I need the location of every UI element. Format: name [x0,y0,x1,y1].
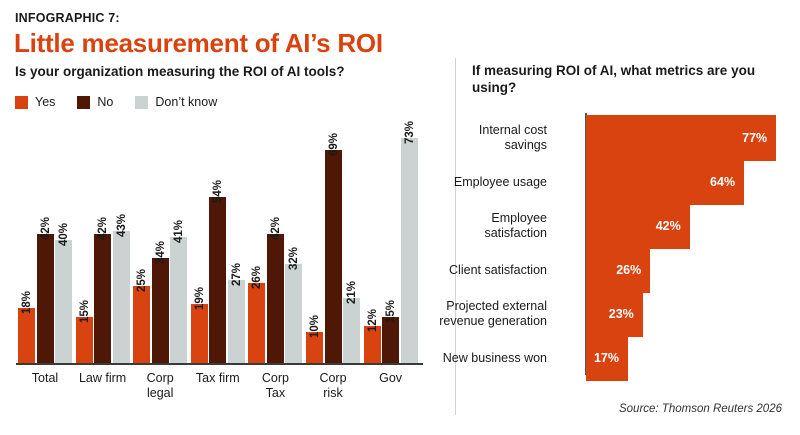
grouped-bar-chart: 18%42%40%15%42%43%25%34%41%19%54%27%26%4… [0,0,455,435]
bar-value-label: 69% [328,133,340,156]
metric-bar-projected-external-revenue-generation: 23% [586,291,643,337]
x-axis-label-gov: Gov [353,371,429,386]
metric-value-label: 42% [656,219,690,233]
metric-label-employee-usage: Employee usage [412,175,547,190]
bar-value-label: 54% [212,180,224,203]
bar-tax-firm-don-t-know [228,280,245,363]
bar-tax-firm-yes [191,304,208,363]
metric-value-label: 77% [742,131,776,145]
bar-corp-legal-yes [133,286,150,363]
bar-value-label: 18% [21,291,33,314]
bar-law-firm-no [94,234,111,363]
bar-value-label: 26% [251,266,263,289]
right-chart-question: If measuring ROI of AI, what metrics are… [472,62,762,96]
metric-row: New business won17% [455,335,800,381]
metric-label-internal-cost-savings: Internal costsavings [412,123,547,153]
bar-value-label: 25% [136,269,148,292]
bar-gov-no [382,317,399,363]
metric-value-label: 64% [710,175,744,189]
bar-corp-legal-no [152,258,169,363]
bar-value-label: 27% [231,263,243,286]
bar-corp-tax-don-t-know [285,264,302,363]
bar-value-label: 41% [173,220,185,243]
bar-value-label: 43% [116,214,128,237]
bar-value-label: 42% [270,217,282,240]
bar-total-no [37,234,54,363]
bar-value-label: 10% [309,315,321,338]
metric-row: Projected externalrevenue generation23% [455,291,800,337]
bar-total-don-t-know [55,240,72,363]
metric-value-label: 26% [616,263,650,277]
bar-corp-tax-yes [248,283,265,363]
metric-bar-internal-cost-savings: 77% [586,115,776,161]
bar-value-label: 42% [40,217,52,240]
bar-value-label: 19% [194,287,206,310]
metric-label-employee-satisfaction: Employeesatisfaction [412,211,547,241]
horizontal-bar-chart: If measuring ROI of AI, what metrics are… [455,0,800,435]
bar-corp-risk-no [325,150,342,363]
bar-gov-don-t-know [401,138,418,363]
metric-bar-employee-usage: 64% [586,159,744,205]
bar-law-firm-don-t-know [113,231,130,363]
bar-value-label: 12% [367,309,379,332]
bar-value-label: 34% [155,241,167,264]
metric-label-new-business-won: New business won [412,351,547,366]
bar-value-label: 42% [97,217,109,240]
source-attribution: Source: Thomson Reuters 2026 [619,403,782,415]
metric-bar-client-satisfaction: 26% [586,247,650,293]
bar-corp-legal-don-t-know [170,237,187,363]
metric-value-label: 17% [594,351,628,365]
bar-total-yes [18,308,35,363]
bar-value-label: 15% [385,300,397,323]
metric-value-label: 23% [609,307,643,321]
bar-value-label: 40% [58,223,70,246]
bar-corp-tax-no [267,234,284,363]
bar-value-label: 15% [79,300,91,323]
metric-row: Internal costsavings77% [455,115,800,161]
metric-label-client-satisfaction: Client satisfaction [412,263,547,278]
metric-row: Employeesatisfaction42% [455,203,800,249]
bar-corp-risk-don-t-know [343,298,360,363]
metric-bar-employee-satisfaction: 42% [586,203,690,249]
metric-label-projected-external-revenue-generation: Projected externalrevenue generation [412,299,547,329]
bar-law-firm-yes [76,317,93,363]
bar-value-label: 21% [346,281,358,304]
infographic-page: INFOGRAPHIC 7: Little measurement of AI’… [0,0,800,435]
bar-tax-firm-no [209,197,226,363]
metric-row: Employee usage64% [455,159,800,205]
left-chart-baseline [16,363,423,365]
metric-bar-new-business-won: 17% [586,335,628,381]
metric-row: Client satisfaction26% [455,247,800,293]
bar-value-label: 32% [288,247,300,270]
